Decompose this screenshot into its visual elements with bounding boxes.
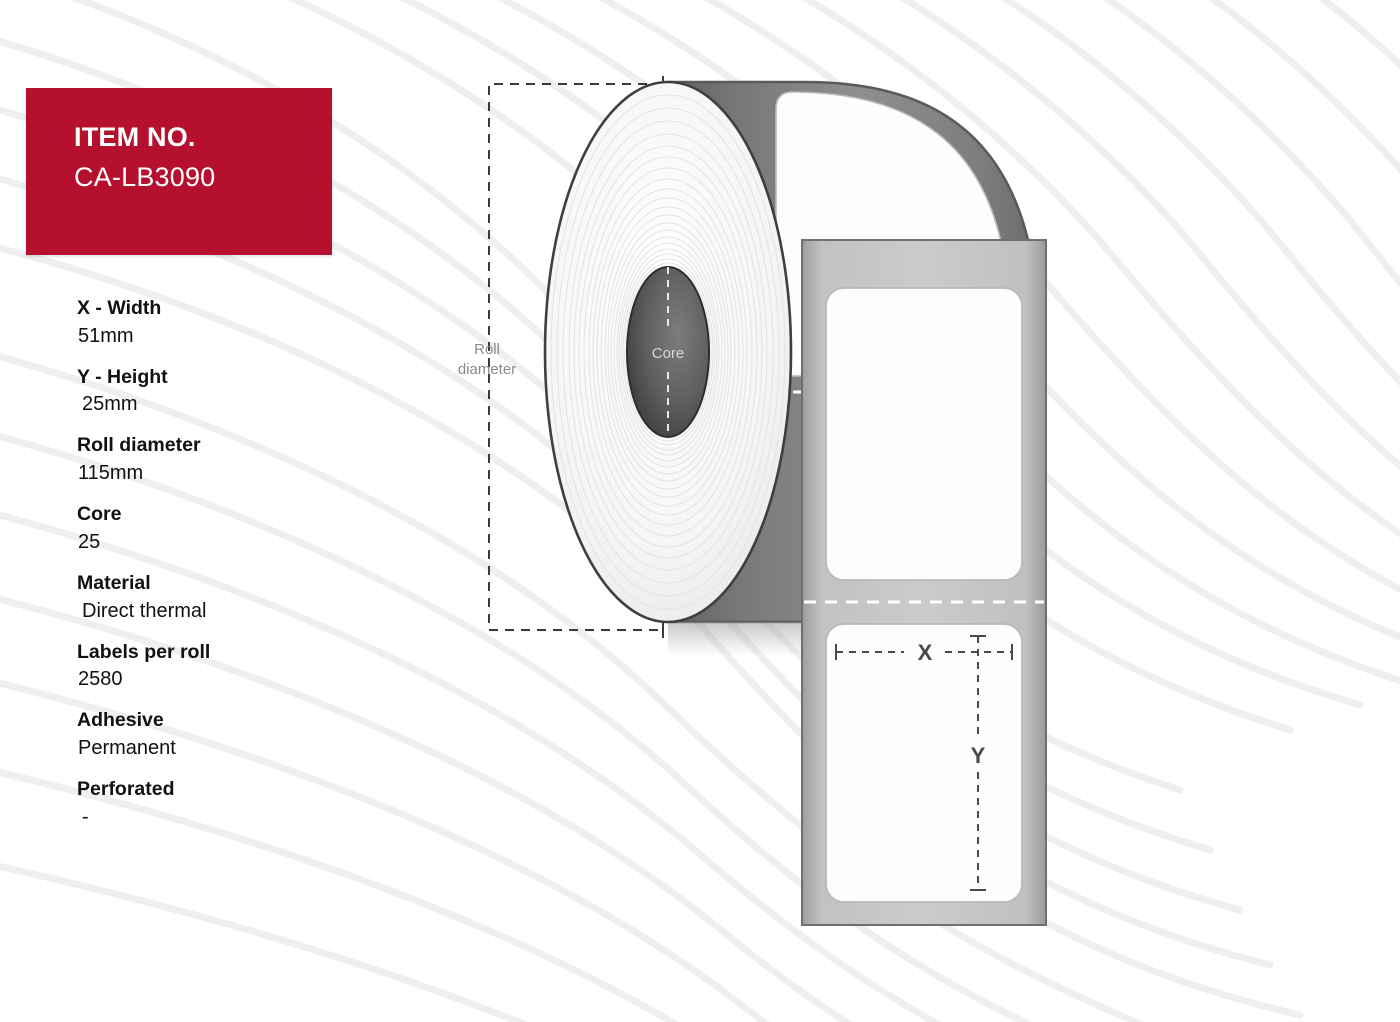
spec-label-roll-diameter: Roll diameter	[77, 433, 407, 459]
spec-value-labels-per-roll: 2580	[77, 665, 407, 694]
spec-row-core: Core 25	[77, 502, 407, 557]
label-roll-illustration: Roll diameter	[440, 40, 1140, 970]
spec-label-perforated: Perforated	[77, 777, 407, 803]
spec-label-labels-per-roll: Labels per roll	[77, 640, 407, 666]
width-dimension-label: X	[918, 640, 933, 665]
spec-value-width: 51mm	[77, 322, 407, 351]
spec-value-perforated: -	[77, 803, 407, 832]
label-bottom	[826, 624, 1022, 902]
item-number-banner: ITEM NO. CA-LB3090	[26, 88, 332, 255]
spec-row-perforated: Perforated -	[77, 777, 407, 832]
spec-value-material: Direct thermal	[77, 597, 407, 626]
label-middle	[826, 288, 1022, 580]
roll-side-disc: Core	[545, 82, 791, 622]
spec-label-width: X - Width	[77, 296, 407, 322]
product-spec-sheet: ITEM NO. CA-LB3090 X - Width 51mm Y - He…	[0, 0, 1400, 1022]
spec-row-height: Y - Height 25mm	[77, 365, 407, 420]
specification-list: X - Width 51mm Y - Height 25mm Roll diam…	[77, 296, 407, 846]
roll-diameter-label-line1: Roll	[474, 341, 500, 358]
spec-row-adhesive: Adhesive Permanent	[77, 708, 407, 763]
spec-label-adhesive: Adhesive	[77, 708, 407, 734]
item-number-code: CA-LB3090	[74, 162, 215, 193]
spec-row-roll-diameter: Roll diameter 115mm	[77, 433, 407, 488]
height-dimension-label: Y	[971, 743, 986, 768]
spec-value-roll-diameter: 115mm	[77, 459, 407, 488]
spec-value-height: 25mm	[77, 390, 407, 419]
item-number-title: ITEM NO.	[74, 122, 196, 153]
roll-diameter-label-line2: diameter	[458, 361, 516, 378]
spec-label-material: Material	[77, 571, 407, 597]
core-label: Core	[652, 345, 685, 362]
spec-row-material: Material Direct thermal	[77, 571, 407, 626]
spec-value-core: 25	[77, 528, 407, 557]
spec-row-width: X - Width 51mm	[77, 296, 407, 351]
label-strip	[802, 240, 1046, 925]
spec-value-adhesive: Permanent	[77, 734, 407, 763]
spec-label-core: Core	[77, 502, 407, 528]
spec-label-height: Y - Height	[77, 365, 407, 391]
spec-row-labels-per-roll: Labels per roll 2580	[77, 640, 407, 695]
